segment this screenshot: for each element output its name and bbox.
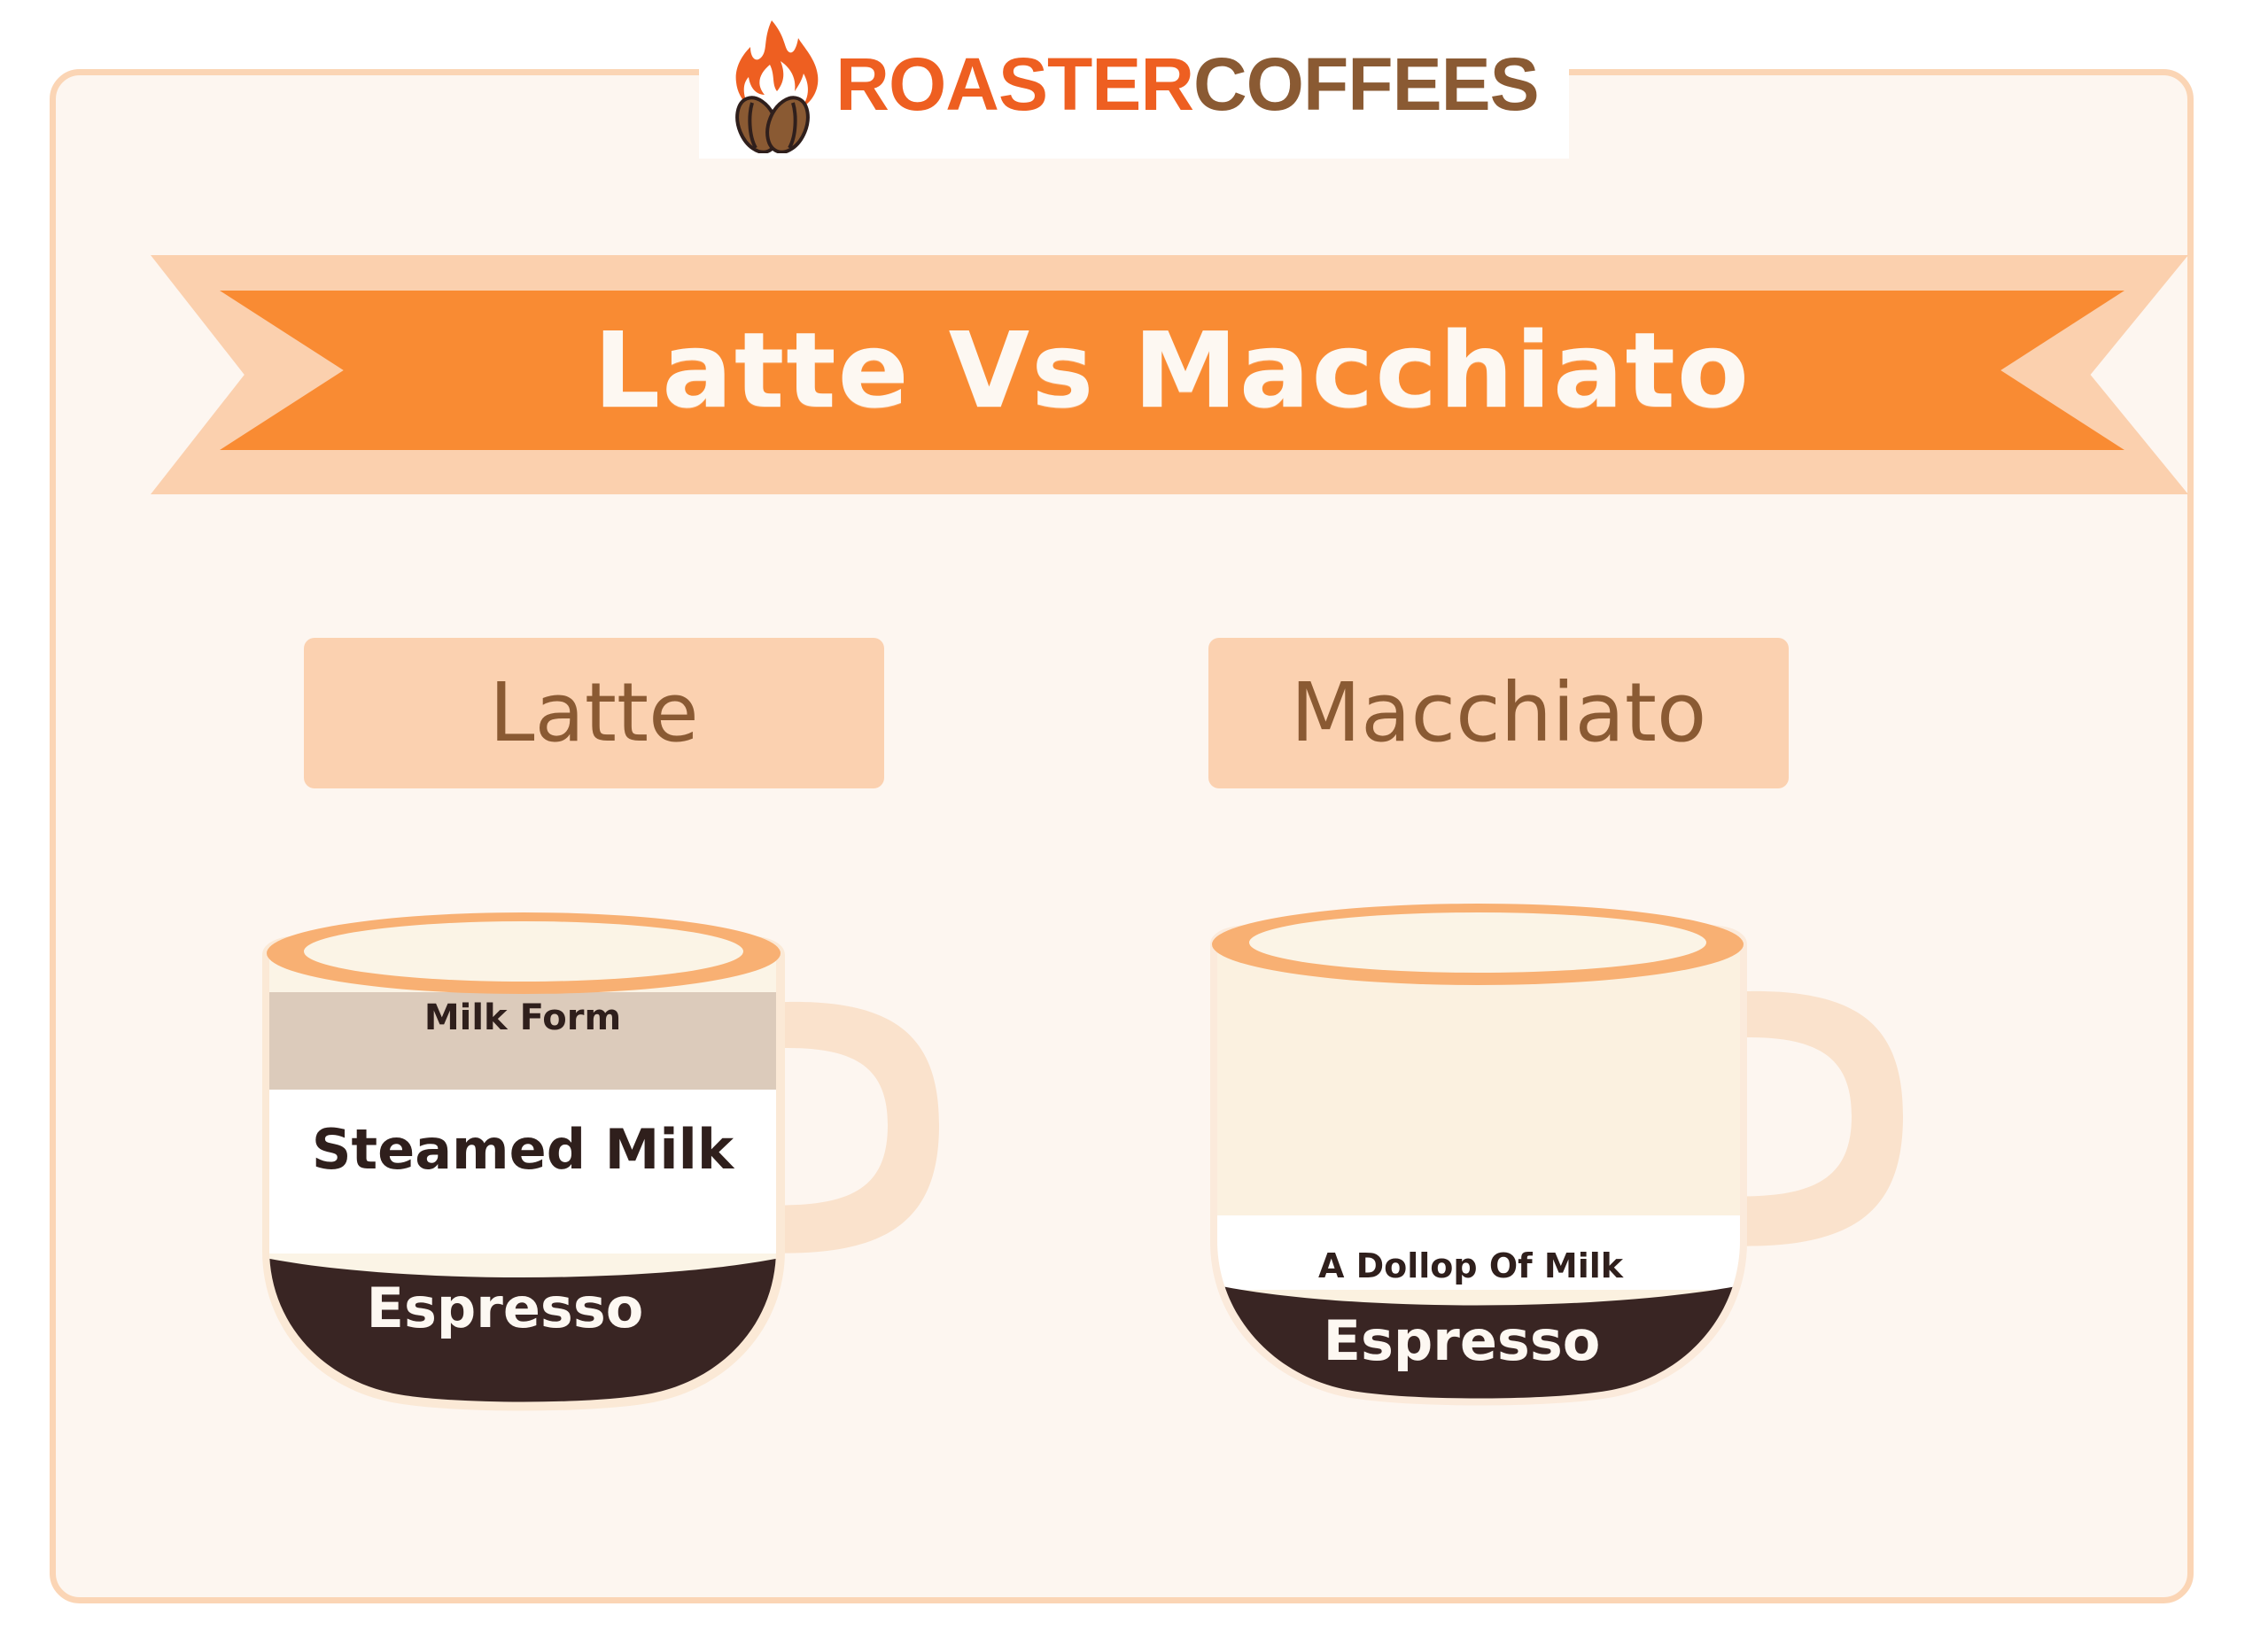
cup-layer-steamed-milk-latte bbox=[257, 1090, 788, 1254]
brand-logo-inner[interactable]: ROASTERCOFFEES bbox=[699, 10, 1568, 159]
cup-rim-inner-latte bbox=[304, 921, 743, 982]
column-latte: Latte bbox=[230, 638, 1143, 1435]
cup-handle-latte bbox=[762, 1002, 939, 1254]
cup-handle-macchiato bbox=[1722, 991, 1903, 1246]
cup-layer-espresso-macchiato bbox=[1205, 1283, 1754, 1435]
title-banner: Latte Vs Macchiato bbox=[0, 246, 2268, 503]
brand-name: ROASTERCOFFEES bbox=[835, 47, 1538, 121]
cup-macchiato: A Dollop Of Milk Espresso bbox=[1187, 904, 2100, 1435]
column-macchiato: Macchiato bbox=[1187, 638, 2100, 1435]
cup-latte: Milk Form Steamed Milk Espresso bbox=[230, 904, 1143, 1435]
page-title: Latte Vs Macchiato bbox=[220, 291, 2124, 450]
drink-label-latte[interactable]: Latte bbox=[304, 638, 884, 788]
cup-layer-milk-foam-latte bbox=[257, 992, 788, 1090]
cup-rim-inner-macchiato bbox=[1249, 912, 1706, 973]
drink-label-macchiato[interactable]: Macchiato bbox=[1208, 638, 1789, 788]
infographic-canvas: ROASTERCOFFEES Latte Vs Macchiato Latte bbox=[0, 0, 2268, 1630]
cup-layer-dollop-milk-macchiato bbox=[1205, 1215, 1754, 1290]
flame-coffee-bean-icon bbox=[717, 19, 827, 153]
brand-name-primary: ROASTER bbox=[835, 43, 1193, 126]
brand-name-secondary: COFFEES bbox=[1193, 43, 1539, 126]
